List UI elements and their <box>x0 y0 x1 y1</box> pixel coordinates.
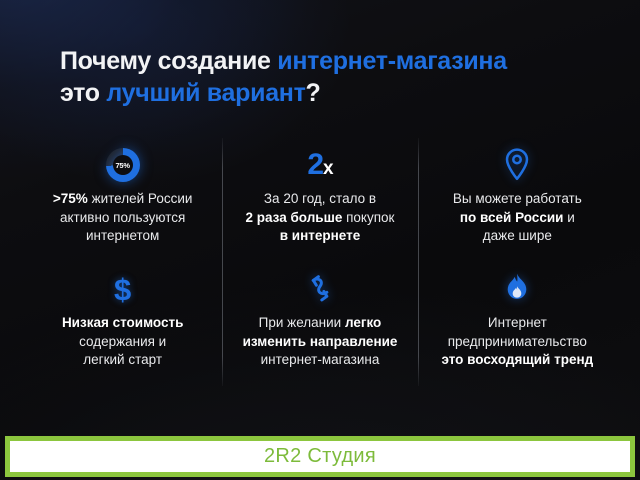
dollar-glyph: $ <box>114 274 131 305</box>
benefit-text-plain: Интернет <box>488 315 547 330</box>
benefit-text-plain: легкий старт <box>83 352 162 367</box>
benefit-text-bold: изменить направление <box>243 334 398 349</box>
benefit-text-plain: покупок <box>346 210 394 225</box>
benefits-grid: 75% >75% жителей России активно пользуют… <box>24 138 616 386</box>
headline-line-1-plain: Почему создание <box>60 47 277 75</box>
benefit-card-text: Интернет предпринимательство это восходя… <box>441 314 593 370</box>
benefit-text-plain: активно пользуются <box>60 210 185 225</box>
brand-name: 2R2 Студия <box>264 445 376 468</box>
benefit-card-change-direction: При желании легко изменить направление и… <box>221 262 418 386</box>
benefit-text-plain: даже шире <box>483 228 552 243</box>
slide-root: Почему создание интернет-магазина это лу… <box>0 0 640 480</box>
donut-chart-75-icon: 75% <box>106 144 140 186</box>
benefit-card-text: Вы можете работать по всей России и даже… <box>453 190 582 246</box>
headline-line-2-accent: лучший вариант <box>106 79 305 107</box>
headline-line-1-accent: интернет-магазина <box>277 47 507 75</box>
grid-divider-1 <box>222 138 223 386</box>
benefit-card-rising-trend: Интернет предпринимательство это восходя… <box>419 262 616 386</box>
benefit-card-text: При желании легко изменить направление и… <box>243 314 398 370</box>
stat-unit: x <box>323 158 333 179</box>
benefit-text-plain: предпринимательство <box>448 334 587 349</box>
flame-icon <box>504 268 530 310</box>
benefit-text-bold: >75% <box>53 191 92 206</box>
benefit-text-plain: содержания и <box>79 334 166 349</box>
stat-2x-icon: 2x <box>307 144 332 186</box>
dollar-sign-icon: $ <box>114 268 131 310</box>
benefit-card-nationwide-reach: Вы можете работать по всей России и даже… <box>419 138 616 262</box>
benefit-card-internet-users: 75% >75% жителей России активно пользуют… <box>24 138 221 262</box>
benefit-text-plain: интернетом <box>86 228 159 243</box>
footer-brand-banner: 2R2 Студия <box>5 436 635 477</box>
page-title: Почему создание интернет-магазина это лу… <box>60 45 590 109</box>
stat-2x-value: 2x <box>307 150 332 180</box>
benefit-card-text: >75% жителей России активно пользуются и… <box>53 190 193 246</box>
benefit-text-bold: 2 раза больше <box>246 210 347 225</box>
benefit-text-plain: За 20 год, стало в <box>264 191 376 206</box>
benefit-text-bold: это восходящий тренд <box>441 352 593 367</box>
benefit-text-bold: легко <box>345 315 381 330</box>
benefit-text-bold: по всей России <box>460 210 567 225</box>
benefit-text-plain: интернет-магазина <box>261 352 380 367</box>
benefit-text-plain: и <box>567 210 575 225</box>
stat-number: 2 <box>307 148 323 181</box>
headline-line-2: это лучший вариант? <box>60 79 321 107</box>
benefit-text-bold: в интернете <box>280 228 360 243</box>
benefit-text-bold: Низкая стоимость <box>62 315 183 330</box>
location-pin-icon <box>502 144 532 186</box>
grid-divider-2 <box>418 138 419 386</box>
donut-ring: 75% <box>106 148 140 182</box>
benefit-card-low-cost: $ Низкая стоимость содержания и легкий с… <box>24 262 221 386</box>
benefit-text-plain: При желании <box>259 315 345 330</box>
benefit-text-plain: Вы можете работать <box>453 191 582 206</box>
benefit-card-text: За 20 год, стало в 2 раза больше покупок… <box>246 190 395 246</box>
headline-line-2-tail: ? <box>306 79 321 107</box>
change-direction-arrow-icon <box>305 268 335 310</box>
benefit-text-plain: жителей России <box>92 191 193 206</box>
headline-line-2-plain: это <box>60 79 106 107</box>
benefit-card-text: Низкая стоимость содержания и легкий ста… <box>62 314 183 370</box>
donut-label: 75% <box>115 161 129 170</box>
headline-line-1: Почему создание интернет-магазина <box>60 47 507 75</box>
benefit-card-purchase-growth: 2x За 20 год, стало в 2 раза больше поку… <box>221 138 418 262</box>
